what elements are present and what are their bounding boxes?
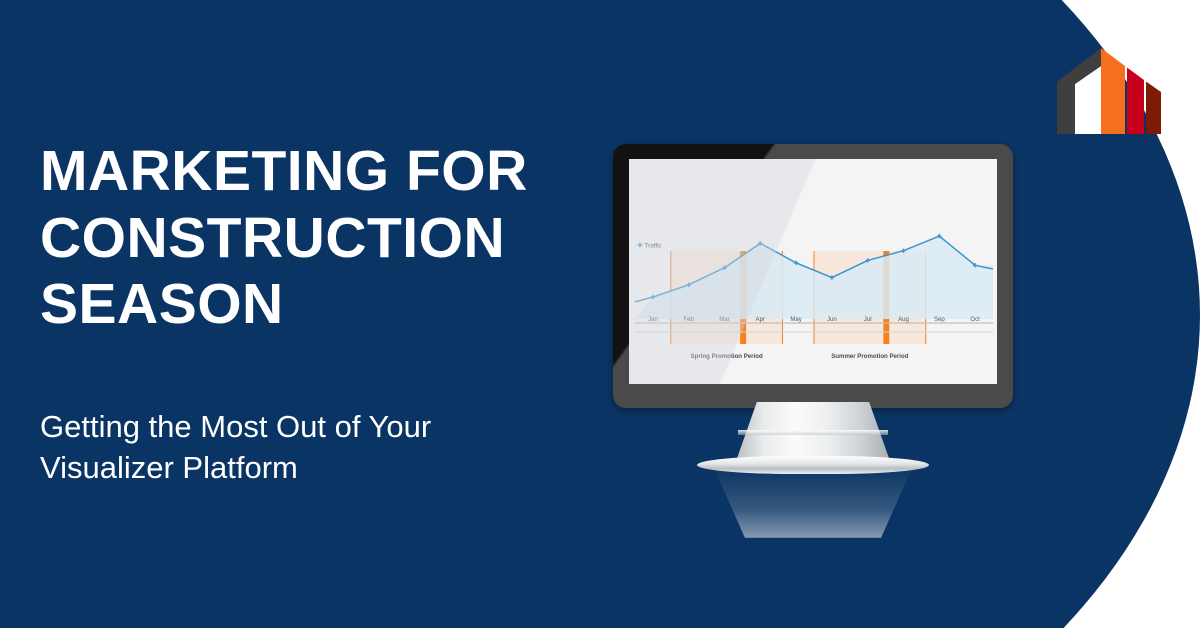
legend-label-traffic: Traffic — [645, 242, 662, 249]
logo-orange-bar — [1101, 48, 1125, 134]
traffic-chart: Spring Promotion PeriodSummer Promotion … — [629, 159, 997, 384]
x-tick-label: Feb — [683, 316, 694, 323]
x-tick-label: Jun — [827, 316, 837, 323]
headline-line-2: CONSTRUCTION — [40, 205, 600, 272]
x-tick-label: Mar — [719, 316, 730, 323]
x-tick-label: Jan — [648, 316, 658, 323]
promo-band-label: Summer Promotion Period — [831, 353, 908, 360]
subhead-line-2: Visualizer Platform — [40, 447, 600, 488]
x-tick-label: Sep — [934, 316, 945, 323]
monitor-screen: Spring Promotion PeriodSummer Promotion … — [629, 159, 997, 384]
logo-crimson-bar — [1127, 68, 1144, 135]
chart-legend: Traffic — [638, 242, 662, 249]
headline-line-3: SEASON — [40, 271, 600, 338]
subhead-line-1: Getting the Most Out of Your — [40, 406, 600, 447]
x-tick-label: May — [790, 316, 802, 323]
promo-band-label: Spring Promotion Period — [691, 353, 763, 360]
desktop-monitor: Spring Promotion PeriodSummer Promotion … — [613, 144, 1013, 408]
page-title: MARKETING FOR CONSTRUCTION SEASON — [40, 138, 600, 338]
logo-darkred-bar — [1146, 82, 1161, 135]
poster-canvas: MARKETING FOR CONSTRUCTION SEASON Gettin… — [0, 0, 1200, 628]
x-tick-label: Aug — [898, 316, 909, 323]
headline-line-1: MARKETING FOR — [40, 138, 600, 205]
logo-gray-column — [1057, 82, 1075, 134]
hero-text-block: MARKETING FOR CONSTRUCTION SEASON Gettin… — [40, 138, 600, 489]
page-subtitle: Getting the Most Out of Your Visualizer … — [40, 406, 600, 488]
building-logo — [1057, 42, 1165, 136]
monitor-neck-highlight — [738, 430, 888, 435]
x-tick-label: Apr — [756, 316, 765, 323]
x-tick-label: Jul — [864, 316, 872, 323]
x-tick-label: Oct — [970, 316, 980, 323]
monitor-reflection — [713, 466, 913, 538]
